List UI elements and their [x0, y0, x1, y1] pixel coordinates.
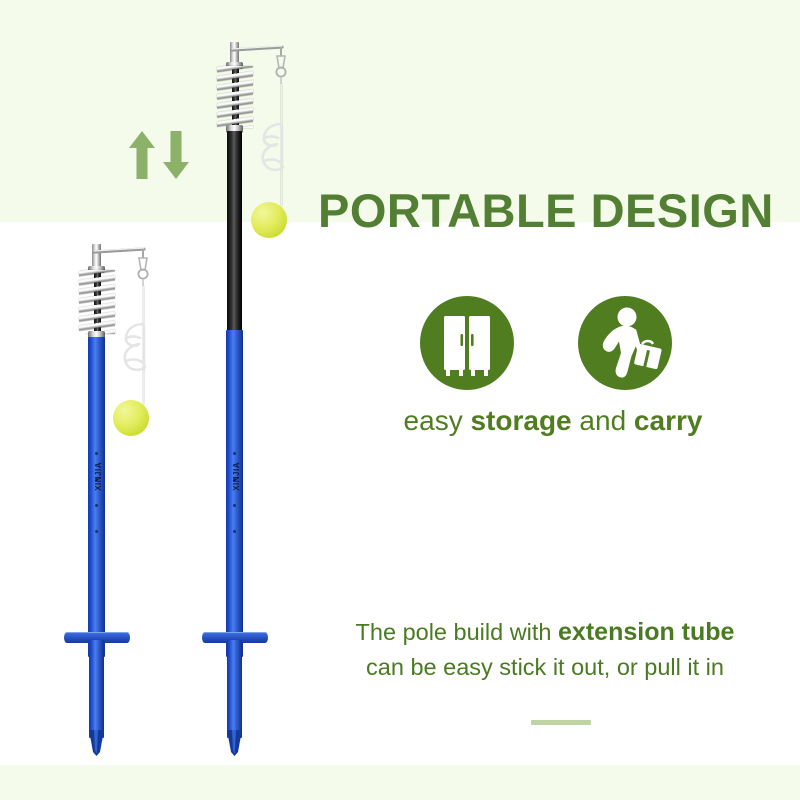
blue-outer-tube	[226, 330, 243, 657]
swivel-hook-arm	[92, 246, 154, 306]
caption-part-1: easy	[404, 405, 471, 436]
stake-shaft	[89, 640, 104, 738]
ground-stake-tip	[89, 730, 104, 756]
caption-part-2: and	[572, 405, 634, 436]
pole-brand-text: XINJIA	[94, 462, 103, 491]
adjust-hole	[233, 504, 236, 507]
banner-canvas: XINJIA	[0, 0, 800, 800]
pole-brand-text: XINJIA	[232, 462, 241, 491]
sub-copy-line-2: can be easy stick it out, or pull it in	[300, 651, 790, 684]
sub-copy-line-1-bold: extension tube	[558, 618, 734, 646]
swivel-hook-arm	[230, 44, 292, 104]
black-inner-tube	[227, 131, 242, 333]
adjust-hole	[95, 452, 98, 455]
feature-icon-row	[420, 296, 710, 396]
adjust-hole	[233, 530, 236, 533]
adjust-hole	[95, 530, 98, 533]
ground-stake-tip	[227, 730, 242, 756]
sub-copy: The pole build with extension tube can b…	[300, 615, 790, 684]
tennis-ball	[113, 400, 149, 436]
tennis-ball	[251, 202, 287, 238]
feature-caption: easy storage and carry	[318, 405, 788, 437]
caption-bold-storage: storage	[470, 405, 571, 436]
traveler-luggage-icon	[578, 296, 672, 390]
adjust-hole	[233, 478, 236, 481]
sub-copy-line-1: The pole build with extension tube	[300, 615, 790, 651]
stake-shaft	[227, 640, 242, 738]
page-title: PORTABLE DESIGN	[318, 186, 788, 235]
sub-copy-line-1-prefix: The pole build with	[356, 619, 558, 645]
caption-bold-carry: carry	[634, 405, 703, 436]
adjust-hole	[95, 504, 98, 507]
plastic-clip-icon	[252, 118, 294, 180]
section-divider	[531, 720, 591, 725]
blue-outer-tube	[88, 337, 105, 657]
wardrobe-icon	[420, 296, 514, 390]
adjust-hole	[233, 452, 236, 455]
adjust-hole	[95, 478, 98, 481]
